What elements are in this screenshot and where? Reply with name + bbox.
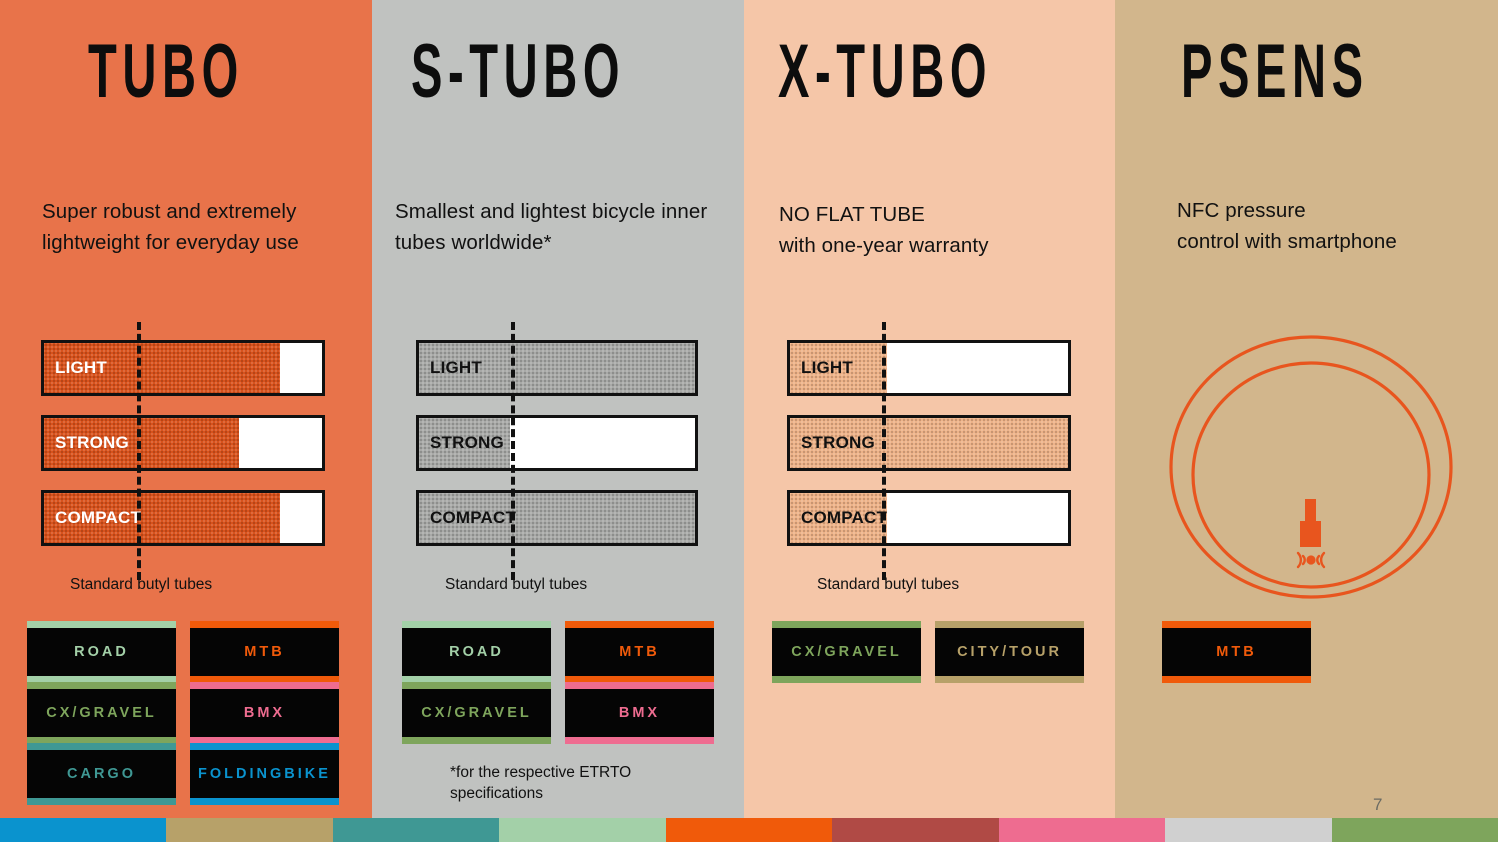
tag-city-tour[interactable]: CITY/TOUR bbox=[935, 628, 1084, 676]
column-title-psens: PSENS bbox=[1181, 34, 1378, 110]
tag-cx-gravel[interactable]: CX/GRAVEL bbox=[402, 689, 551, 737]
strip-segment-8 bbox=[1165, 818, 1331, 842]
bar-label: COMPACT bbox=[430, 508, 516, 528]
tag-cargo[interactable]: CARGO bbox=[27, 750, 176, 798]
tag-label: MTB bbox=[619, 644, 659, 660]
std-label-stubo: Standard butyl tubes bbox=[445, 576, 587, 594]
strip-segment-3 bbox=[333, 818, 499, 842]
bar-group-stubo: LIGHTSTRONGCOMPACT bbox=[416, 340, 698, 565]
tag-label: MTB bbox=[1216, 644, 1256, 660]
tag-group-xtubo: CX/GRAVELCITY/TOUR bbox=[772, 628, 1092, 676]
tag-label: CARGO bbox=[67, 766, 136, 782]
bar-label: STRONG bbox=[801, 433, 875, 453]
bar-xtubo-strong: STRONG bbox=[787, 415, 1071, 471]
tag-bmx[interactable]: BMX bbox=[565, 689, 714, 737]
tag-mtb[interactable]: MTB bbox=[565, 628, 714, 676]
bar-stubo-light: LIGHT bbox=[416, 340, 698, 396]
strip-segment-2 bbox=[166, 818, 332, 842]
tag-bmx[interactable]: BMX bbox=[190, 689, 339, 737]
column-subtitle-tubo: Super robust and extremely lightweight f… bbox=[42, 196, 352, 258]
tag-label: CX/GRAVEL bbox=[421, 705, 532, 721]
tag-group-tubo: ROADMTBCX/GRAVELBMXCARGOFOLDINGBIKE bbox=[27, 628, 347, 798]
tag-label: CX/GRAVEL bbox=[46, 705, 157, 721]
etrto-footnote: *for the respective ETRTO specifications bbox=[450, 763, 700, 805]
tag-mtb[interactable]: MTB bbox=[190, 628, 339, 676]
tag-cx-gravel[interactable]: CX/GRAVEL bbox=[772, 628, 921, 676]
nfc-tube-icon bbox=[1166, 325, 1456, 610]
bar-label: STRONG bbox=[55, 433, 129, 453]
bar-stubo-compact: COMPACT bbox=[416, 490, 698, 546]
strip-segment-7 bbox=[999, 818, 1165, 842]
std-label-xtubo: Standard butyl tubes bbox=[817, 576, 959, 594]
tag-label: ROAD bbox=[449, 644, 504, 660]
tag-cx-gravel[interactable]: CX/GRAVEL bbox=[27, 689, 176, 737]
bottom-color-strip bbox=[0, 818, 1498, 842]
strip-segment-4 bbox=[499, 818, 665, 842]
column-subtitle-psens: NFC pressure control with smartphone bbox=[1177, 195, 1498, 257]
tag-foldingbike[interactable]: FOLDINGBIKE bbox=[190, 750, 339, 798]
strip-segment-1 bbox=[0, 818, 166, 842]
tag-label: ROAD bbox=[74, 644, 129, 660]
tag-road[interactable]: ROAD bbox=[27, 628, 176, 676]
bar-tubo-strong: STRONG bbox=[41, 415, 325, 471]
psens-subtitle-line1: NFC pressure bbox=[1177, 195, 1498, 226]
column-title-tubo: TUBO bbox=[88, 34, 264, 110]
std-label-tubo: Standard butyl tubes bbox=[70, 576, 212, 594]
bar-group-xtubo: LIGHTSTRONGCOMPACT bbox=[787, 340, 1071, 565]
bar-label: STRONG bbox=[430, 433, 504, 453]
tag-label: FOLDINGBIKE bbox=[198, 766, 331, 782]
bar-label: LIGHT bbox=[801, 358, 853, 378]
xtubo-subtitle-line2: with one-year warranty bbox=[779, 230, 1099, 261]
psens-subtitle-line2: control with smartphone bbox=[1177, 226, 1498, 257]
strip-segment-5 bbox=[666, 818, 832, 842]
tag-group-stubo: ROADMTBCX/GRAVELBMX bbox=[402, 628, 722, 737]
bar-label: LIGHT bbox=[55, 358, 107, 378]
bar-label: LIGHT bbox=[430, 358, 482, 378]
tag-mtb[interactable]: MTB bbox=[1162, 628, 1311, 676]
tag-label: CX/GRAVEL bbox=[791, 644, 902, 660]
bar-xtubo-compact: COMPACT bbox=[787, 490, 1071, 546]
column-title-stubo: S-TUBO bbox=[411, 34, 617, 110]
bar-tubo-compact: COMPACT bbox=[41, 490, 325, 546]
tag-label: BMX bbox=[619, 705, 660, 721]
strip-segment-9 bbox=[1332, 818, 1498, 842]
tag-label: BMX bbox=[244, 705, 285, 721]
tag-group-psens: MTB bbox=[1162, 628, 1482, 676]
column-subtitle-xtubo: NO FLAT TUBE with one-year warranty bbox=[779, 199, 1099, 261]
page-number: 7 bbox=[1373, 795, 1382, 815]
tag-label: CITY/TOUR bbox=[957, 644, 1062, 660]
column-title-xtubo: X-TUBO bbox=[778, 34, 987, 110]
column-subtitle-stubo: Smallest and lightest bicycle inner tube… bbox=[395, 196, 725, 258]
bar-label: COMPACT bbox=[801, 508, 887, 528]
tag-label: MTB bbox=[244, 644, 284, 660]
bar-tubo-light: LIGHT bbox=[41, 340, 325, 396]
tag-road[interactable]: ROAD bbox=[402, 628, 551, 676]
bar-label: COMPACT bbox=[55, 508, 141, 528]
bar-group-tubo: LIGHTSTRONGCOMPACT bbox=[41, 340, 325, 565]
slide: TUBO Super robust and extremely lightwei… bbox=[0, 0, 1498, 842]
bar-stubo-strong: STRONG bbox=[416, 415, 698, 471]
strip-segment-6 bbox=[832, 818, 998, 842]
xtubo-subtitle-line1: NO FLAT TUBE bbox=[779, 199, 1099, 230]
bar-xtubo-light: LIGHT bbox=[787, 340, 1071, 396]
